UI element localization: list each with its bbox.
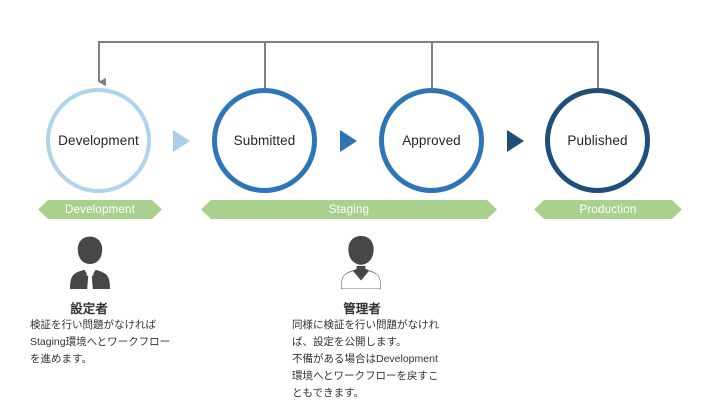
stage-node-published[interactable]: Published xyxy=(545,88,650,193)
persona-body-line: 検証を行い問題がなければ xyxy=(30,317,170,334)
arrow-app-to-pub-icon xyxy=(507,130,524,152)
persona-title-settei-sha: 設定者 xyxy=(30,298,148,317)
arrow-dev-to-sub-icon xyxy=(173,130,190,152)
env-banner-production: Production xyxy=(534,200,682,219)
stage-label-submitted: Submitted xyxy=(234,133,296,148)
female-avatar-icon xyxy=(330,231,392,293)
persona-body-line: ば、設定を公開します。 xyxy=(292,334,439,351)
persona-body-line: 不備がある場合はDevelopment xyxy=(292,351,439,368)
workflow-diagram: Development Submitted Approved Published… xyxy=(0,0,720,404)
stage-node-approved[interactable]: Approved xyxy=(379,88,484,193)
male-avatar-icon xyxy=(59,231,121,293)
persona-body-line: ともできます。 xyxy=(292,385,439,402)
persona-body-line: Staging環境へとワークフロー xyxy=(30,334,170,351)
persona-body-kanri-sha: 同様に検証を行い問題がなけれ ば、設定を公開します。 不備がある場合はDevel… xyxy=(292,317,439,402)
return-path-main xyxy=(99,42,598,88)
env-banner-label-development: Development xyxy=(65,204,135,216)
stage-label-approved: Approved xyxy=(402,133,461,148)
persona-body-line: を進めます。 xyxy=(30,351,170,368)
arrow-sub-to-app-icon xyxy=(340,130,357,152)
env-banner-development: Development xyxy=(38,200,162,219)
persona-body-line: 環境へとワークフローを戻すこ xyxy=(292,368,439,385)
env-banner-label-staging: Staging xyxy=(329,204,369,216)
persona-body-settei-sha: 検証を行い問題がなければ Staging環境へとワークフロー を進めます。 xyxy=(30,317,170,368)
stage-node-development[interactable]: Development xyxy=(46,88,151,193)
stage-label-development: Development xyxy=(58,133,139,148)
env-banner-label-production: Production xyxy=(580,204,637,216)
persona-body-line: 同様に検証を行い問題がなけれ xyxy=(292,317,439,334)
persona-title-kanri-sha: 管理者 xyxy=(300,298,424,317)
env-banner-staging: Staging xyxy=(201,200,497,219)
stage-node-submitted[interactable]: Submitted xyxy=(212,88,317,193)
stage-label-published: Published xyxy=(567,133,627,148)
